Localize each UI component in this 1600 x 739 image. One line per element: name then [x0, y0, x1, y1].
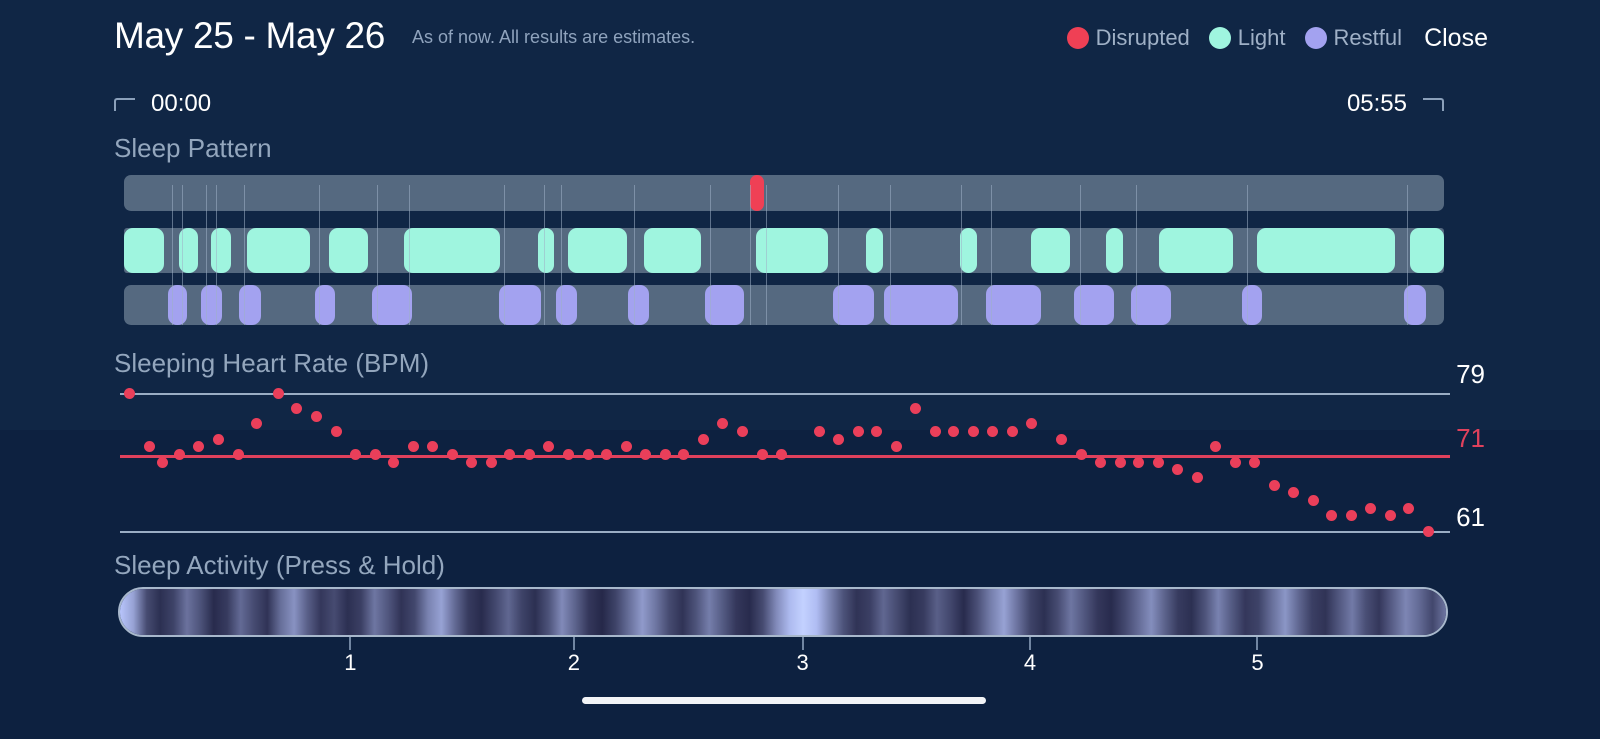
sleep-segment-light[interactable] [404, 228, 500, 273]
hour-tick-label: 3 [796, 650, 808, 676]
heart-rate-point [273, 388, 284, 399]
heart-rate-point [486, 457, 497, 468]
heart-rate-title: Sleeping Heart Rate (BPM) [114, 348, 429, 379]
sleep-segment-restful[interactable] [628, 285, 649, 325]
heart-rate-point [1385, 510, 1396, 521]
heart-rate-point [891, 441, 902, 452]
segment-connector [206, 185, 207, 325]
hour-tick-mark [349, 637, 351, 650]
heart-rate-point [1365, 503, 1376, 514]
segment-connector [172, 185, 173, 325]
heart-rate-point [930, 426, 941, 437]
heart-rate-point [1326, 510, 1337, 521]
legend: DisruptedLightRestful [1067, 25, 1402, 51]
legend-label: Restful [1334, 25, 1402, 51]
heart-rate-point [427, 441, 438, 452]
heart-rate-point [757, 449, 768, 460]
heart-rate-point [1346, 510, 1357, 521]
heart-rate-point [987, 426, 998, 437]
sleep-segment-light[interactable] [1106, 228, 1123, 273]
hour-tick-mark [1029, 637, 1031, 650]
time-end-label: 05:55 [1347, 90, 1407, 118]
heart-rate-point [737, 426, 748, 437]
sleep-segment-restful[interactable] [201, 285, 222, 325]
heart-rate-point [1115, 457, 1126, 468]
sleep-segment-disrupted[interactable] [750, 175, 765, 211]
heart-rate-point [601, 449, 612, 460]
heart-rate-point [1423, 526, 1434, 537]
heart-rate-point [1056, 434, 1067, 445]
hour-tick-label: 5 [1251, 650, 1263, 676]
heart-rate-point [466, 457, 477, 468]
sleep-segment-light[interactable] [568, 228, 627, 273]
heart-rate-point [504, 449, 515, 460]
heart-rate-point [447, 449, 458, 460]
close-button[interactable]: Close [1424, 24, 1488, 53]
heart-rate-point [698, 434, 709, 445]
hour-tick-axis: 12345 [0, 637, 1600, 677]
heart-rate-point [157, 457, 168, 468]
heart-rate-point [717, 418, 728, 429]
heart-rate-point [833, 434, 844, 445]
hour-tick-mark [1256, 637, 1258, 650]
heart-rate-point [583, 449, 594, 460]
sleep-segment-restful[interactable] [1242, 285, 1262, 325]
home-indicator[interactable] [582, 697, 986, 704]
heart-rate-point [144, 441, 155, 452]
sleep-segment-light[interactable] [1410, 228, 1444, 273]
sleep-segment-light[interactable] [1031, 228, 1071, 273]
heart-rate-point [1172, 464, 1183, 475]
heart-rate-point [350, 449, 361, 460]
heart-rate-point [853, 426, 864, 437]
hour-tick-mark [573, 637, 575, 650]
heart-rate-point [1249, 457, 1260, 468]
heart-rate-point [1076, 449, 1087, 460]
header: May 25 - May 26 As of now. All results a… [0, 0, 1600, 80]
sleep-activity-title: Sleep Activity (Press & Hold) [114, 550, 445, 581]
heart-rate-point [213, 434, 224, 445]
legend-item-restful: Restful [1305, 25, 1402, 51]
sleep-pattern-title: Sleep Pattern [114, 133, 272, 164]
time-axis: 00:00 05:55 [114, 90, 1444, 124]
track-restful[interactable] [124, 285, 1444, 325]
sleep-segment-restful[interactable] [986, 285, 1041, 325]
track-disrupted[interactable] [124, 175, 1444, 211]
heart-rate-max-line [120, 393, 1450, 395]
heart-rate-point [1007, 426, 1018, 437]
sleep-segment-light[interactable] [644, 228, 701, 273]
heart-rate-point [1026, 418, 1037, 429]
sleep-segment-restful[interactable] [499, 285, 541, 325]
heart-rate-point [678, 449, 689, 460]
segment-connector [409, 185, 410, 325]
segment-connector [244, 185, 245, 325]
heart-rate-point [408, 441, 419, 452]
heart-rate-point [1133, 457, 1144, 468]
heart-rate-point [331, 426, 342, 437]
heart-rate-point [1288, 487, 1299, 498]
time-start-label: 00:00 [151, 90, 211, 118]
heart-rate-point [291, 403, 302, 414]
segment-connector [1247, 185, 1248, 325]
track-light[interactable] [124, 228, 1444, 273]
heart-rate-point [814, 426, 825, 437]
segment-connector [991, 185, 992, 325]
sleep-pattern-chart[interactable] [124, 175, 1444, 325]
heart-rate-point [1308, 495, 1319, 506]
sleep-segment-light[interactable] [247, 228, 310, 273]
hour-tick-label: 2 [568, 650, 580, 676]
heart-rate-point [621, 441, 632, 452]
sleep-activity-strip[interactable] [118, 587, 1448, 637]
segment-connector [504, 185, 505, 325]
legend-label: Light [1238, 25, 1286, 51]
page-subtitle: As of now. All results are estimates. [412, 27, 695, 48]
sleep-segment-light[interactable] [866, 228, 883, 273]
heart-rate-point [1230, 457, 1241, 468]
segment-connector [890, 185, 891, 325]
segment-connector [961, 185, 962, 325]
heart-rate-point [1192, 472, 1203, 483]
sleep-segment-light[interactable] [329, 228, 369, 273]
circle-icon [1305, 27, 1327, 49]
hour-tick-label: 1 [344, 650, 356, 676]
segment-connector [710, 185, 711, 325]
sleep-segment-restful[interactable] [239, 285, 261, 325]
sleep-segment-light[interactable] [756, 228, 827, 273]
sleep-segment-light[interactable] [124, 228, 164, 273]
segment-connector [377, 185, 378, 325]
segment-connector [766, 185, 767, 325]
legend-item-light: Light [1209, 25, 1286, 51]
sleep-activity-waveform [120, 589, 1446, 635]
page-title: May 25 - May 26 [114, 15, 385, 57]
corner-bracket-top-right-icon [1423, 98, 1444, 111]
heart-rate-point [124, 388, 135, 399]
heart-rate-point [1210, 441, 1221, 452]
heart-rate-min-label: 61 [1456, 502, 1485, 533]
legend-item-disrupted: Disrupted [1067, 25, 1190, 51]
segment-connector [634, 185, 635, 325]
segment-connector [216, 185, 217, 325]
heart-rate-point [193, 441, 204, 452]
heart-rate-point [660, 449, 671, 460]
heart-rate-max-label: 79 [1456, 359, 1485, 390]
circle-icon [1067, 27, 1089, 49]
heart-rate-point [388, 457, 399, 468]
heart-rate-point [524, 449, 535, 460]
segment-connector [1136, 185, 1137, 325]
sleep-segment-light[interactable] [960, 228, 977, 273]
segment-connector [838, 185, 839, 325]
segment-connector [1407, 185, 1408, 325]
heart-rate-point [174, 449, 185, 460]
hour-tick-mark [802, 637, 804, 650]
legend-label: Disrupted [1096, 25, 1190, 51]
sleep-segment-restful[interactable] [884, 285, 958, 325]
sleep-segment-light[interactable] [538, 228, 554, 273]
segment-connector [544, 185, 545, 325]
heart-rate-point [1153, 457, 1164, 468]
heart-rate-point [543, 441, 554, 452]
heart-rate-point [563, 449, 574, 460]
sleep-segment-light[interactable] [211, 228, 231, 273]
heart-rate-point [1269, 480, 1280, 491]
heart-rate-point [233, 449, 244, 460]
heart-rate-min-line [120, 531, 1450, 533]
heart-rate-point [948, 426, 959, 437]
heart-rate-avg-label: 71 [1456, 423, 1485, 454]
circle-icon [1209, 27, 1231, 49]
sleep-segment-restful[interactable] [556, 285, 577, 325]
segment-connector [1080, 185, 1081, 325]
heart-rate-point [640, 449, 651, 460]
heart-rate-point [251, 418, 262, 429]
segment-connector [319, 185, 320, 325]
sleep-segment-light[interactable] [1257, 228, 1396, 273]
hour-tick-label: 4 [1024, 650, 1036, 676]
segment-connector [750, 185, 751, 325]
segment-connector [561, 185, 562, 325]
sleep-segment-restful[interactable] [315, 285, 335, 325]
heart-rate-chart[interactable]: 79 71 61 [120, 378, 1450, 538]
heart-rate-point [1403, 503, 1414, 514]
sleep-segment-restful[interactable] [168, 285, 188, 325]
heart-rate-point [910, 403, 921, 414]
heart-rate-point [968, 426, 979, 437]
heart-rate-point [370, 449, 381, 460]
corner-bracket-top-left-icon [114, 98, 135, 111]
heart-rate-point [1095, 457, 1106, 468]
heart-rate-point [311, 411, 322, 422]
heart-rate-point [871, 426, 882, 437]
sleep-segment-light[interactable] [1159, 228, 1233, 273]
segment-connector [182, 185, 183, 325]
heart-rate-point [776, 449, 787, 460]
